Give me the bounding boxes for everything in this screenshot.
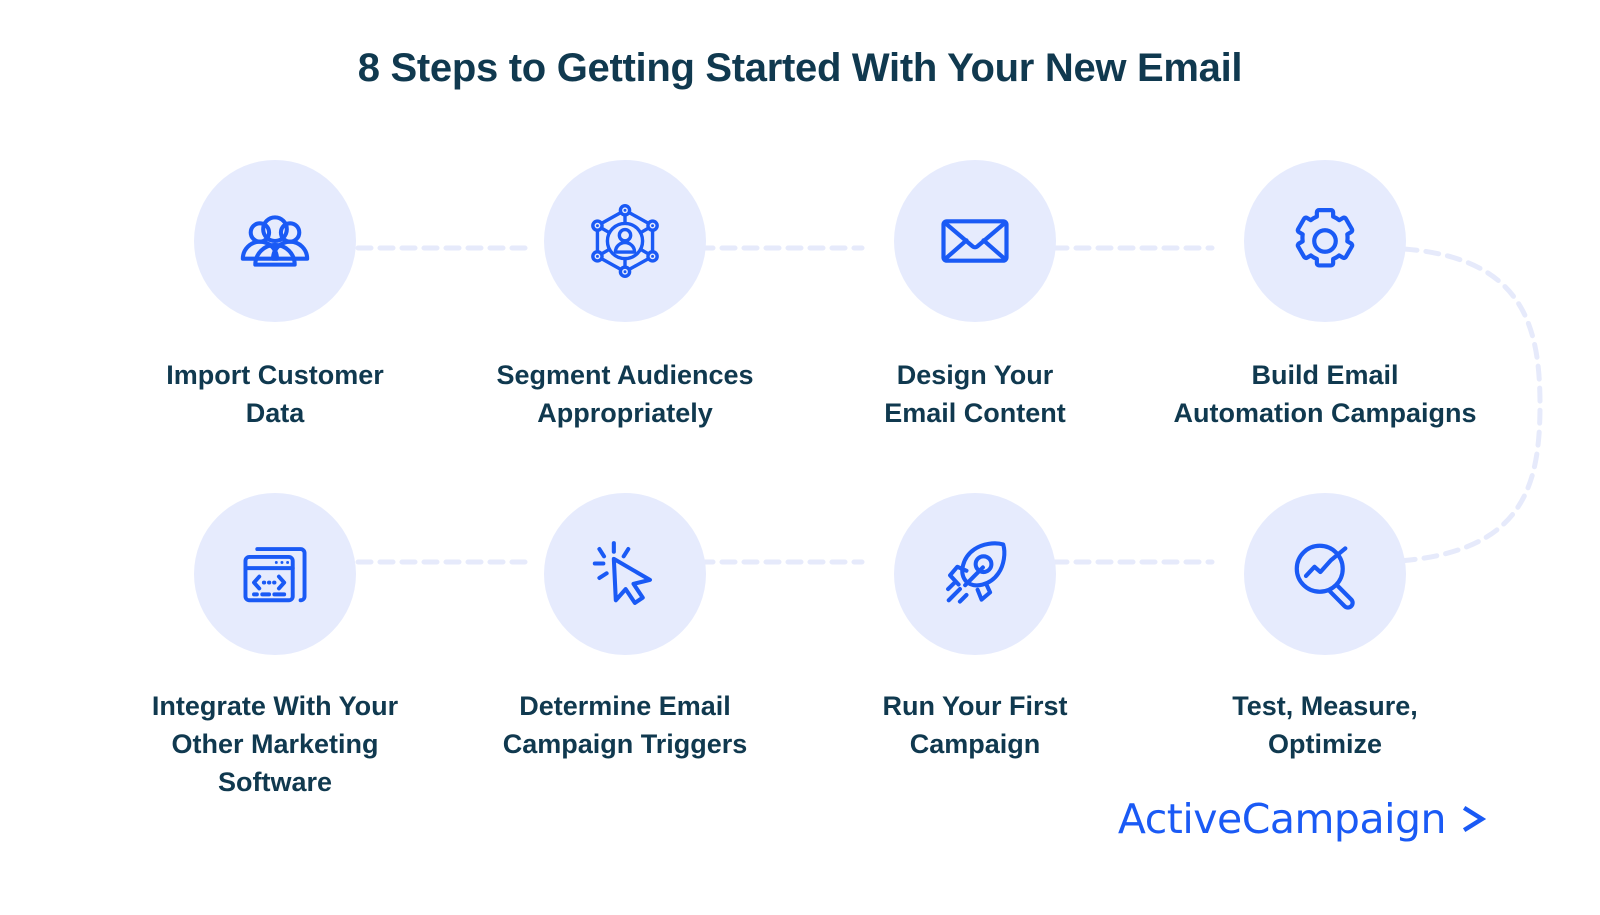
step-icon-circle-5: [194, 493, 356, 655]
step-icon-circle-1: [194, 160, 356, 322]
cursor-click-icon: [583, 532, 667, 616]
audience-network-icon: [583, 199, 667, 283]
browser-code-icon: [233, 532, 317, 616]
step-icon-circle-4: [1244, 160, 1406, 322]
step-item-1: Import Customer Data: [100, 160, 450, 433]
step-label-4: Build Email Automation Campaigns: [1173, 356, 1476, 433]
step-item-8: Test, Measure, Optimize: [1150, 493, 1500, 802]
gear-icon: [1283, 199, 1367, 283]
step-icon-circle-6: [544, 493, 706, 655]
envelope-icon: [933, 199, 1017, 283]
activecampaign-logo[interactable]: ActiveCampaign: [1118, 795, 1490, 843]
logo-wordmark: ActiveCampaign: [1118, 795, 1446, 843]
step-label-3: Design Your Email Content: [884, 356, 1066, 433]
chevron-right-icon: [1460, 800, 1490, 838]
people-group-icon: [233, 199, 317, 283]
step-icon-circle-3: [894, 160, 1056, 322]
step-item-3: Design Your Email Content: [800, 160, 1150, 433]
step-item-2: Segment Audiences Appropriately: [450, 160, 800, 433]
step-item-5: Integrate With Your Other Marketing Soft…: [100, 493, 450, 802]
rocket-icon: [933, 532, 1017, 616]
step-label-1: Import Customer Data: [166, 356, 384, 433]
magnifier-chart-icon: [1283, 532, 1367, 616]
steps-grid: Import Customer Data: [100, 160, 1500, 802]
step-icon-circle-2: [544, 160, 706, 322]
step-label-5: Integrate With Your Other Marketing Soft…: [152, 687, 398, 802]
step-item-6: Determine Email Campaign Triggers: [450, 493, 800, 802]
step-icon-circle-7: [894, 493, 1056, 655]
step-item-7: Run Your First Campaign: [800, 493, 1150, 802]
step-label-2: Segment Audiences Appropriately: [496, 356, 753, 433]
infographic-canvas: 8 Steps to Getting Started With Your New…: [0, 0, 1600, 915]
page-title: 8 Steps to Getting Started With Your New…: [0, 46, 1600, 91]
step-label-6: Determine Email Campaign Triggers: [503, 687, 748, 764]
step-item-4: Build Email Automation Campaigns: [1150, 160, 1500, 433]
step-icon-circle-8: [1244, 493, 1406, 655]
step-label-8: Test, Measure, Optimize: [1232, 687, 1418, 764]
step-label-7: Run Your First Campaign: [882, 687, 1067, 764]
